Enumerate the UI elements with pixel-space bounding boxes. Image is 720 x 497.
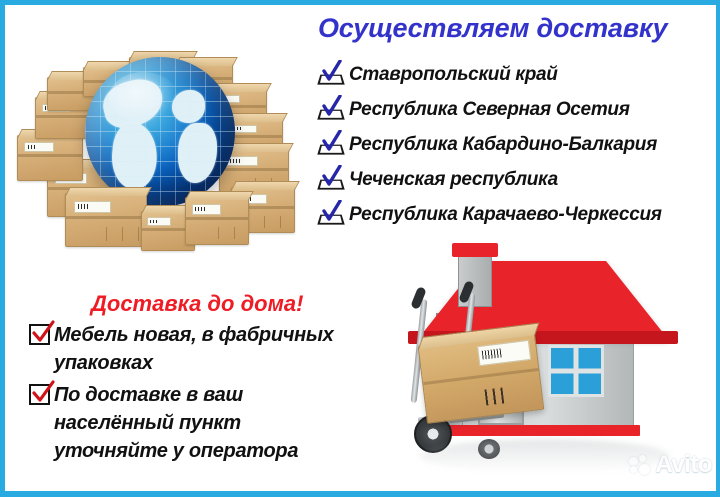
list-item-label: Республика Кабардино-Балкария <box>349 134 657 156</box>
list-item-label: Ставропольский край <box>349 64 558 86</box>
chimney-cap <box>452 243 498 257</box>
avito-watermark: Avito <box>629 451 712 479</box>
regions-list: Ставропольский край Республика Северная … <box>317 57 720 232</box>
avito-watermark-text: Avito <box>655 451 712 479</box>
window-icon <box>548 345 604 397</box>
list-item-label-line2: населённый пункт <box>54 409 379 437</box>
list-item-label: Чеченская республика <box>349 169 558 191</box>
blue-check-box-icon <box>317 202 347 228</box>
list-item-label: По доставке в ваш <box>54 381 243 409</box>
page-title: Осуществляем доставку <box>318 13 718 44</box>
house-base <box>430 425 640 436</box>
cardboard-box-icon <box>65 193 147 247</box>
list-item: Республика Северная Осетия <box>317 92 720 127</box>
cardboard-box-icon <box>17 135 83 181</box>
globe-icon <box>85 57 235 207</box>
list-item: Мебель новая, в фабричных упаковках <box>29 321 379 377</box>
list-item-label: Республика Карачаево-Черкессия <box>349 204 662 226</box>
list-item-label-line2: упаковках <box>54 349 379 377</box>
list-item: По доставке в ваш населённый пункт уточн… <box>29 381 379 465</box>
delivery-heading: Доставка до дома! <box>91 291 303 317</box>
blue-check-box-icon <box>317 97 347 123</box>
list-item: Чеченская республика <box>317 162 720 197</box>
list-item-label: Мебель новая, в фабричных <box>54 321 334 349</box>
red-checkmark-checkbox-icon <box>29 384 50 405</box>
benefits-list: Мебель новая, в фабричных упаковках По д… <box>29 321 379 469</box>
list-item: Республика Карачаево-Черкессия <box>317 197 720 232</box>
list-item-label: Республика Северная Осетия <box>349 99 630 121</box>
list-item: Ставропольский край <box>317 57 720 92</box>
list-item: Республика Кабардино-Балкария <box>317 127 720 162</box>
list-item-label-line3: уточняйте у оператора <box>54 437 379 465</box>
house-and-handtruck-illustration <box>400 243 720 483</box>
red-checkmark-checkbox-icon <box>29 324 50 345</box>
cardboard-box-icon <box>418 332 545 424</box>
blue-check-box-icon <box>317 167 347 193</box>
delivery-poster: Осуществляем доставку Ставропольский кра… <box>0 0 720 497</box>
avito-logo-icon <box>629 455 651 475</box>
cardboard-box-icon <box>185 197 249 245</box>
blue-check-box-icon <box>317 62 347 88</box>
globe-and-boxes-illustration <box>7 15 307 265</box>
blue-check-box-icon <box>317 132 347 158</box>
